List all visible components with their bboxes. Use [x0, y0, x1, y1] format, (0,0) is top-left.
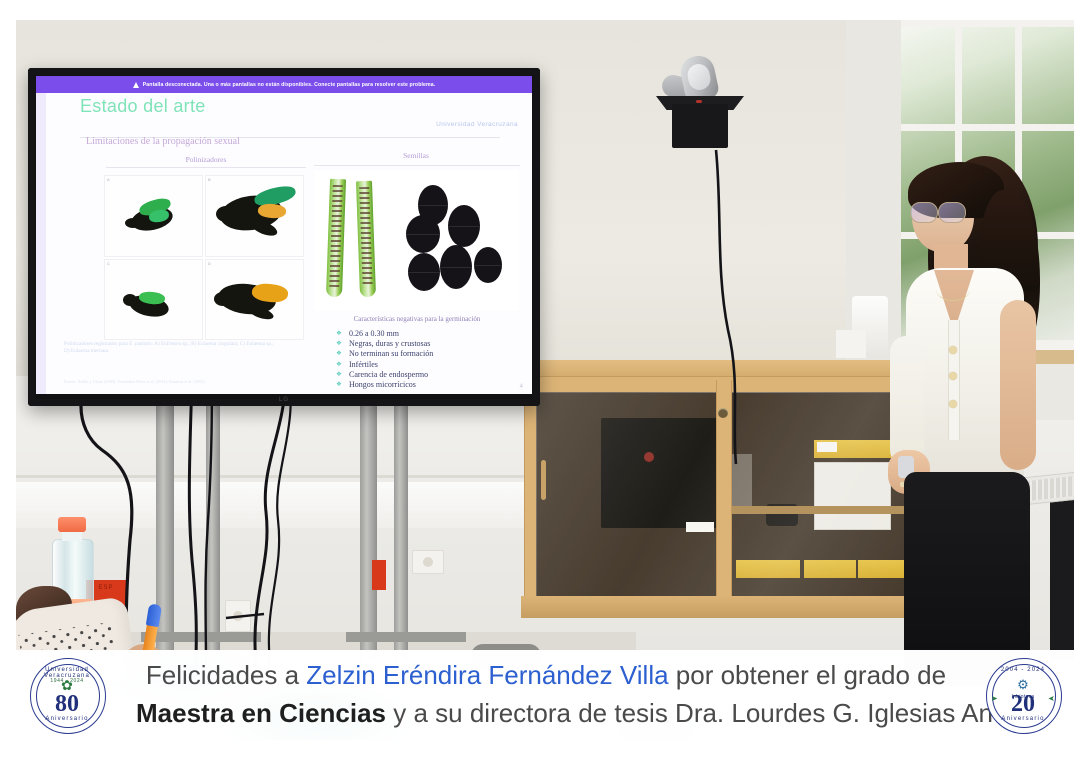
- window-mullion-h1: [901, 124, 1074, 131]
- presentation-tv: Pantalla desconectada. Una o más pantall…: [28, 68, 540, 406]
- presenter-arm-right: [1000, 300, 1036, 470]
- window-frame-top: [901, 20, 1074, 27]
- wall-outlet-2[interactable]: [412, 550, 444, 574]
- screenshot-root: ESP Pantalla: [0, 0, 1090, 760]
- cabinet-base: [521, 596, 921, 618]
- degree-name: Maestra en Ciencias: [136, 698, 386, 728]
- tv-brand-label: LG: [279, 397, 289, 403]
- presenter-glasses-right-icon: [938, 202, 966, 223]
- logo-inbioteca: 2004 - 2024 ⚙ Inbioteca ➤ ➤ 20 Aniversar…: [986, 658, 1060, 732]
- presenter-button-3: [949, 400, 957, 408]
- cabinet-handle[interactable]: [541, 460, 546, 500]
- red-warning-sign-2: [372, 560, 386, 590]
- cabinet-shelf: [730, 506, 906, 514]
- logo-left-subtitle: Aniversario: [30, 716, 104, 722]
- bottle-cap: [58, 517, 86, 532]
- presenter-placket: [948, 320, 960, 440]
- camera-wall-mount: [672, 104, 728, 148]
- cabinet-lock-icon[interactable]: [718, 408, 728, 418]
- logo-left-number: 80: [30, 692, 104, 716]
- caption-prefix: Felicidades a: [146, 660, 306, 690]
- tv-bezel: [28, 68, 540, 406]
- caption-text: Felicidades a Zelzin Eréndira Fernández …: [136, 656, 956, 732]
- tree-icon: ✿: [61, 678, 73, 692]
- presenter-necklace: [936, 278, 970, 301]
- presenter-arm-left: [890, 336, 924, 466]
- caption-bar: Universidad Veracruzana 1944 - 2024 ✿ 80…: [16, 650, 1074, 740]
- presenter-glasses-left-icon: [910, 202, 938, 223]
- advisor-text: y a su directora de tesis Dra. Lourdes G…: [386, 698, 1045, 728]
- flask-icon: ⚙: [1017, 678, 1029, 691]
- graduate-name: Zelzin Eréndira Fernández Villa: [306, 660, 668, 690]
- caption-suffix: por obtener el grado de: [669, 660, 947, 690]
- bottle-neck: [62, 531, 82, 541]
- presenter: [882, 150, 1074, 686]
- logo-universidad-veracruzana: Universidad Veracruzana 1944 - 2024 ✿ 80…: [30, 658, 104, 732]
- white-box: [836, 330, 866, 358]
- caption-line-2: Maestra en Ciencias y a su directora de …: [136, 694, 956, 732]
- camera-led-icon: [696, 100, 702, 103]
- presenter-button-1: [949, 346, 957, 354]
- tv-stand-foot-right: [346, 632, 466, 642]
- caption-line-1: Felicidades a Zelzin Eréndira Fernández …: [136, 656, 956, 694]
- event-photograph: ESP Pantalla: [16, 20, 1074, 740]
- logo-right-years: 2004 - 2024: [986, 667, 1060, 673]
- logo-right-subtitle: Aniversario: [986, 716, 1060, 722]
- wall-outlet-1[interactable]: [225, 600, 251, 632]
- logo-right-number: 20: [986, 692, 1060, 716]
- presenter-button-2: [949, 372, 957, 380]
